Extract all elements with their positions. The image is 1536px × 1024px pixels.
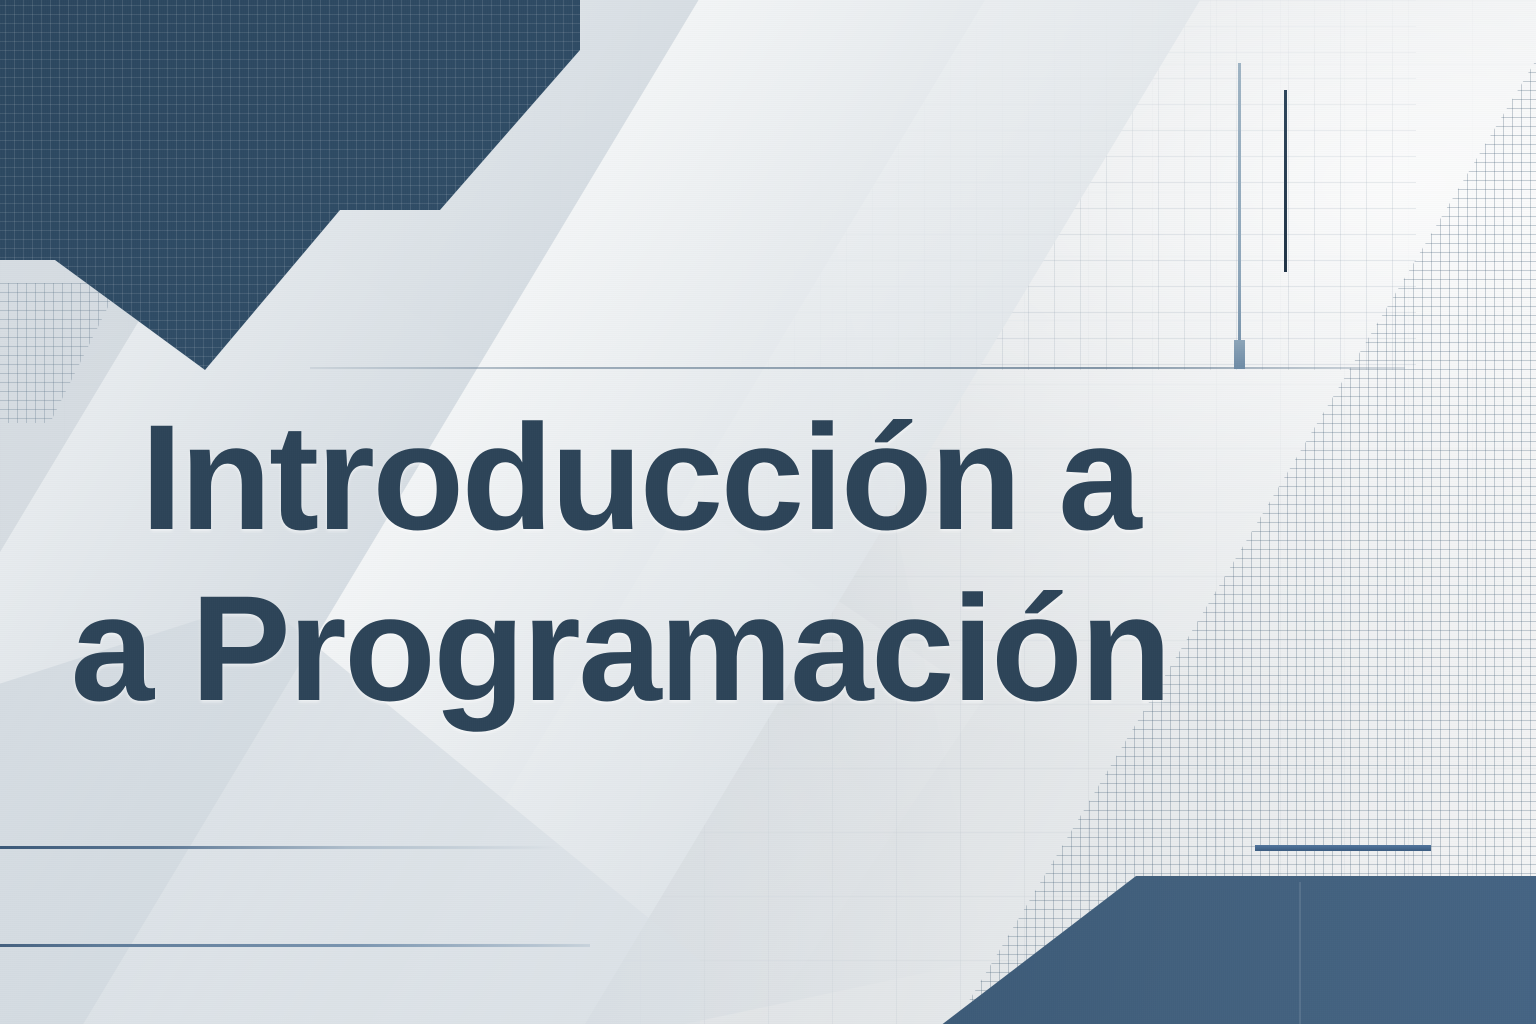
chart-bar-light: [1238, 63, 1241, 368]
page-title: Introducción a a Programación: [0, 392, 1290, 734]
rule-lower-left-upper: [0, 846, 560, 849]
title-line-1: Introducción a: [0, 392, 1290, 563]
rule-right-accent: [1255, 845, 1431, 851]
chart-bar-dark: [1284, 90, 1287, 272]
chart-bar-light-base: [1234, 340, 1245, 369]
blue-trapezoid-seam: [1299, 882, 1301, 1024]
rule-lower-left-lower: [0, 944, 590, 947]
poster-canvas: Introducción a a Programación: [0, 0, 1536, 1024]
title-line-2: a Programación: [0, 563, 1290, 734]
